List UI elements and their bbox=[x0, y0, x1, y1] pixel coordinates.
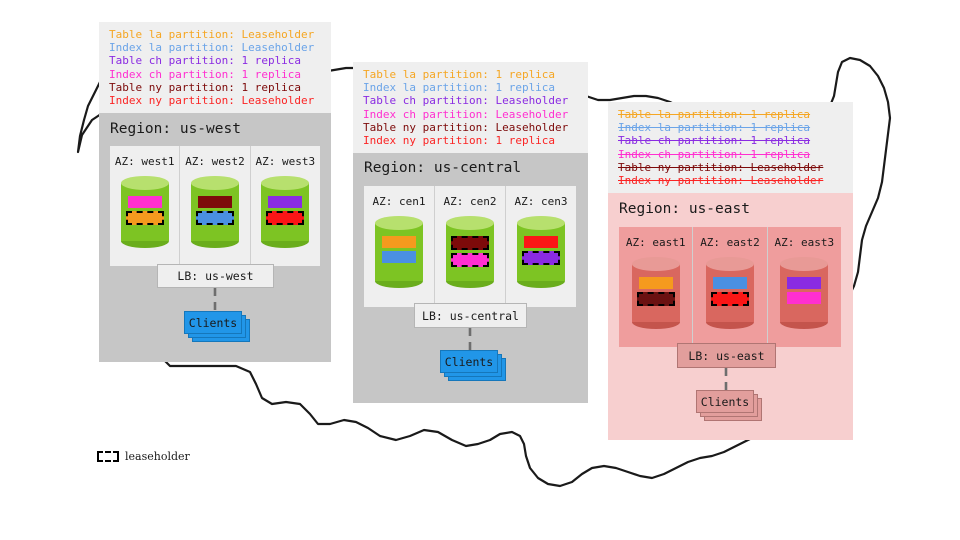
az-cen1[interactable]: AZ: cen1 bbox=[364, 186, 434, 307]
legend-box-us-east: Table la partition: 1 replica Index la p… bbox=[608, 102, 853, 193]
legend-line: Index la partition: 1 replica bbox=[618, 121, 845, 134]
az-label: AZ: cen3 bbox=[515, 195, 568, 208]
az-east2[interactable]: AZ: east2 bbox=[692, 227, 766, 347]
node-cylinder[interactable] bbox=[706, 257, 754, 329]
az-cen2[interactable]: AZ: cen2 bbox=[434, 186, 505, 307]
replica-bar bbox=[637, 292, 675, 306]
legend-line: Index la partition: 1 replica bbox=[363, 81, 580, 94]
az-label: AZ: east1 bbox=[626, 236, 686, 249]
legend-line: Table ch partition: Leaseholder bbox=[363, 94, 580, 107]
legend-line: Index ch partition: 1 replica bbox=[618, 148, 845, 161]
legend-line: Table ny partition: Leaseholder bbox=[618, 161, 845, 174]
az-strip-us-west: AZ: west1 AZ: west2 AZ: west3 bbox=[110, 146, 320, 266]
replica-bar bbox=[382, 251, 416, 263]
lb-us-east[interactable]: LB: us-east bbox=[677, 343, 776, 368]
legend-line: Table la partition: 1 replica bbox=[363, 68, 580, 81]
replica-bar bbox=[451, 253, 489, 267]
az-label: AZ: west3 bbox=[256, 155, 316, 168]
clients-stack-us-central: Clients bbox=[440, 350, 512, 383]
node-cylinder[interactable] bbox=[375, 216, 423, 288]
legend-line: Index ch partition: Leaseholder bbox=[363, 108, 580, 121]
legend-line: Table ny partition: 1 replica bbox=[109, 81, 323, 94]
az-label: AZ: east2 bbox=[700, 236, 760, 249]
az-east3[interactable]: AZ: east3 bbox=[767, 227, 841, 347]
replica-bar bbox=[639, 277, 673, 289]
node-cylinder[interactable] bbox=[191, 176, 239, 248]
az-west3[interactable]: AZ: west3 bbox=[250, 146, 320, 266]
node-cylinder[interactable] bbox=[261, 176, 309, 248]
replica-bar bbox=[524, 236, 558, 248]
lb-us-west[interactable]: LB: us-west bbox=[157, 264, 274, 288]
az-label: AZ: cen1 bbox=[373, 195, 426, 208]
dashed-rect-icon bbox=[97, 451, 119, 462]
replica-bar bbox=[126, 211, 164, 225]
clients-stack-us-west: Clients bbox=[184, 311, 256, 344]
az-cen3[interactable]: AZ: cen3 bbox=[505, 186, 576, 307]
region-title-us-central: Region: us-central bbox=[364, 160, 521, 176]
az-strip-us-central: AZ: cen1 AZ: cen2 AZ: cen3 bbox=[364, 186, 576, 307]
replica-bar bbox=[198, 196, 232, 208]
replica-bar bbox=[713, 277, 747, 289]
legend-line: Table la partition: Leaseholder bbox=[109, 28, 323, 41]
node-cylinder[interactable] bbox=[632, 257, 680, 329]
replica-bar bbox=[382, 236, 416, 248]
replica-bar bbox=[787, 292, 821, 304]
replica-bar bbox=[787, 277, 821, 289]
leaseholder-key-label: leaseholder bbox=[125, 450, 190, 463]
az-label: AZ: west1 bbox=[115, 155, 175, 168]
legend-line: Index la partition: Leaseholder bbox=[109, 41, 323, 54]
az-east1[interactable]: AZ: east1 bbox=[619, 227, 692, 347]
legend-line: Index ny partition: 1 replica bbox=[363, 134, 580, 147]
az-west1[interactable]: AZ: west1 bbox=[110, 146, 179, 266]
clients-stack-us-east: Clients bbox=[696, 390, 768, 423]
legend-line: Index ny partition: Leaseholder bbox=[618, 174, 845, 187]
az-west2[interactable]: AZ: west2 bbox=[179, 146, 249, 266]
legend-box-us-central: Table la partition: 1 replica Index la p… bbox=[353, 62, 588, 153]
az-label: AZ: west2 bbox=[185, 155, 245, 168]
legend-line: Index ch partition: 1 replica bbox=[109, 68, 323, 81]
clients-box[interactable]: Clients bbox=[696, 390, 754, 413]
az-strip-us-east: AZ: east1 AZ: east2 AZ: east3 bbox=[619, 227, 841, 347]
leaseholder-key: leaseholder bbox=[97, 450, 190, 463]
legend-line: Index ny partition: Leaseholder bbox=[109, 94, 323, 107]
replica-bar bbox=[522, 251, 560, 265]
legend-line: Table ch partition: 1 replica bbox=[618, 134, 845, 147]
az-label: AZ: cen2 bbox=[444, 195, 497, 208]
legend-line: Table la partition: 1 replica bbox=[618, 108, 845, 121]
replica-bar bbox=[268, 196, 302, 208]
node-cylinder[interactable] bbox=[121, 176, 169, 248]
lb-us-central[interactable]: LB: us-central bbox=[414, 303, 527, 328]
legend-line: Table ny partition: Leaseholder bbox=[363, 121, 580, 134]
replica-bar bbox=[196, 211, 234, 225]
az-label: AZ: east3 bbox=[775, 236, 835, 249]
legend-line: Table ch partition: 1 replica bbox=[109, 54, 323, 67]
replica-bar bbox=[451, 236, 489, 250]
replica-bar bbox=[711, 292, 749, 306]
legend-box-us-west: Table la partition: Leaseholder Index la… bbox=[99, 22, 331, 113]
node-cylinder[interactable] bbox=[446, 216, 494, 288]
node-cylinder[interactable] bbox=[517, 216, 565, 288]
replica-bar bbox=[266, 211, 304, 225]
region-title-us-east: Region: us-east bbox=[619, 201, 750, 217]
region-title-us-west: Region: us-west bbox=[110, 121, 241, 137]
node-cylinder[interactable] bbox=[780, 257, 828, 329]
clients-box[interactable]: Clients bbox=[184, 311, 242, 334]
replica-bar bbox=[128, 196, 162, 208]
clients-box[interactable]: Clients bbox=[440, 350, 498, 373]
